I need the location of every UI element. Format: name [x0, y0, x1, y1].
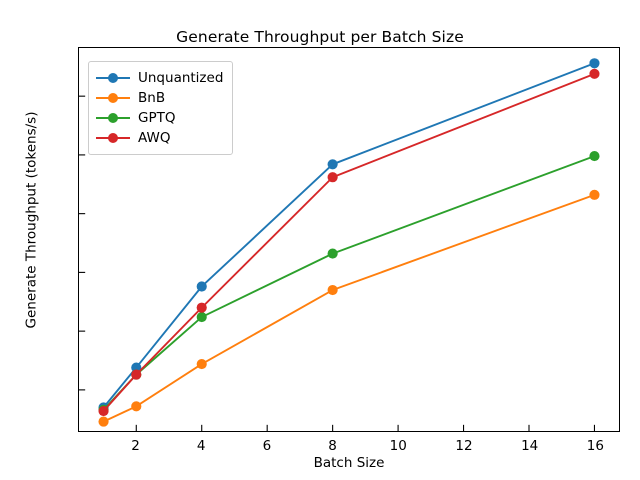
x-tick-label: 2	[131, 438, 140, 454]
data-point-marker	[589, 69, 599, 79]
data-point-marker	[328, 249, 338, 259]
data-point-marker	[328, 285, 338, 295]
y-axis-label: Generate Throughput (tokens/s)	[24, 28, 40, 413]
legend-item-bnb[interactable]: BnB	[96, 88, 223, 108]
series-line-bnb	[104, 195, 595, 422]
legend-swatch-icon	[96, 91, 130, 105]
chart-title: Generate Throughput per Batch Size	[0, 28, 640, 46]
data-point-marker	[197, 281, 207, 291]
data-point-marker	[328, 159, 338, 169]
chart-figure: Generate Throughput per Batch Size Gener…	[0, 0, 640, 480]
data-point-marker	[98, 417, 108, 427]
x-tick-label: 12	[455, 438, 472, 454]
x-tick-label: 4	[197, 438, 206, 454]
legend-label: GPTQ	[138, 110, 175, 126]
x-tick-label: 6	[263, 438, 272, 454]
series-line-gptq	[104, 156, 595, 410]
data-point-marker	[131, 370, 141, 380]
legend-label: Unquantized	[138, 70, 223, 86]
data-point-marker	[589, 58, 599, 68]
x-tick-label: 8	[328, 438, 337, 454]
legend-label: BnB	[138, 90, 165, 106]
data-point-marker	[197, 312, 207, 322]
data-point-marker	[197, 303, 207, 313]
chart-legend: UnquantizedBnBGPTQAWQ	[88, 61, 233, 155]
data-point-marker	[328, 172, 338, 182]
x-axis-label: Batch Size	[78, 455, 620, 471]
data-point-marker	[131, 401, 141, 411]
legend-swatch-icon	[96, 71, 130, 85]
data-point-marker	[589, 190, 599, 200]
legend-label: AWQ	[138, 130, 170, 146]
legend-swatch-icon	[96, 131, 130, 145]
data-point-marker	[589, 151, 599, 161]
legend-swatch-icon	[96, 111, 130, 125]
legend-item-gptq[interactable]: GPTQ	[96, 108, 223, 128]
data-point-marker	[197, 359, 207, 369]
x-tick-label: 14	[521, 438, 538, 454]
data-point-marker	[98, 406, 108, 416]
x-tick-label: 16	[587, 438, 604, 454]
legend-item-unquantized[interactable]: Unquantized	[96, 68, 223, 88]
legend-item-awq[interactable]: AWQ	[96, 128, 223, 148]
x-tick-label: 10	[390, 438, 407, 454]
